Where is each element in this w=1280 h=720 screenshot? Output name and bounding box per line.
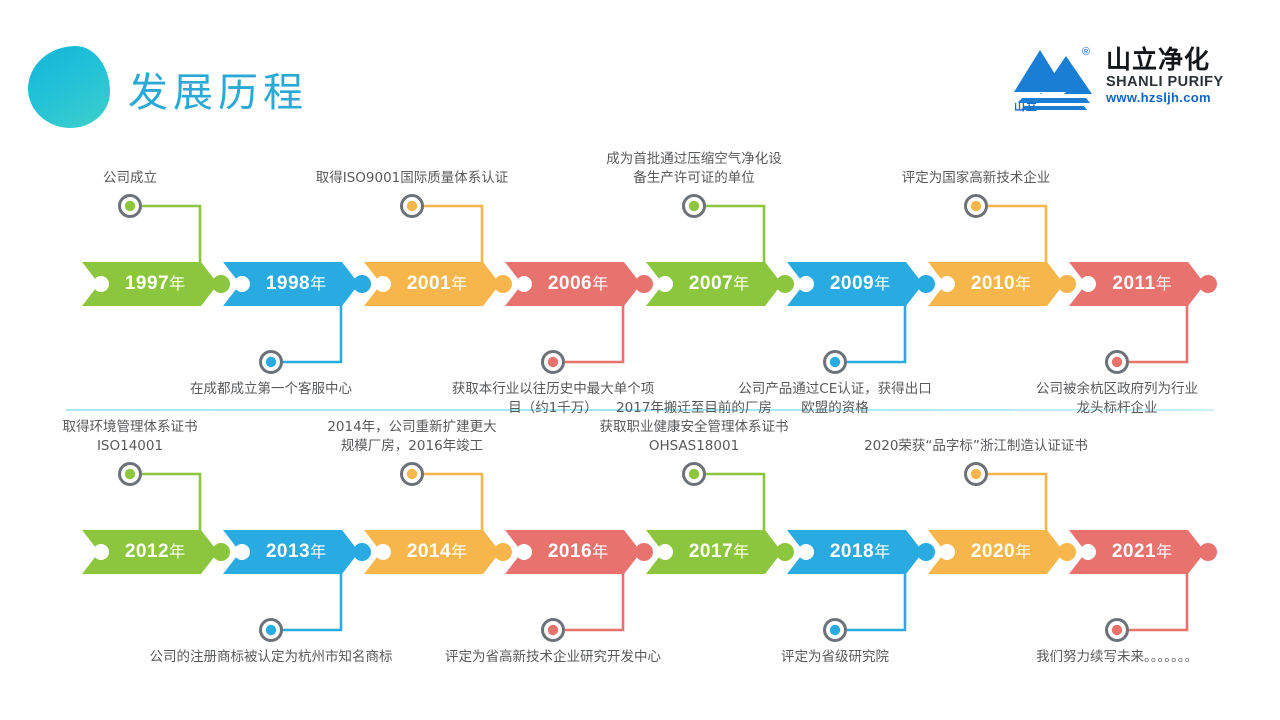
timeline-connector <box>283 570 341 630</box>
timeline-marker-dot[interactable] <box>825 620 846 641</box>
timeline-marker-dot[interactable] <box>966 464 987 485</box>
timeline-note: 我们努力续写未来。。。。。。。 <box>992 648 1242 667</box>
timeline-note: 取得环境管理体系证书 ISO14001 <box>5 418 255 456</box>
chevron-socket <box>939 276 955 292</box>
chevron-nub <box>1058 275 1076 293</box>
chevron-nub <box>353 543 371 561</box>
logo-website: www.hzsljh.com <box>1106 90 1218 106</box>
timeline-connector <box>565 302 623 362</box>
chevron-nub <box>1199 543 1217 561</box>
chevron-socket <box>657 276 673 292</box>
timeline-connector <box>706 206 764 266</box>
timeline-marker-dot[interactable] <box>684 464 705 485</box>
timeline-note: 评定为省高新技术企业研究开发中心 <box>428 648 678 667</box>
timeline-connector <box>424 206 482 266</box>
timeline-connector <box>1129 302 1187 362</box>
chevron-socket <box>1080 276 1096 292</box>
timeline-marker-dot[interactable] <box>684 196 705 217</box>
company-logo: ® 山立 山立净化 SHANLI PURIFY www.hzsljh.com <box>1010 46 1216 120</box>
registered-mark: ® <box>1082 46 1090 58</box>
chevron-socket <box>657 544 673 560</box>
timeline-note: 2017年搬迁至目前的厂房 获取职业健康安全管理体系证书 OHSAS18001 <box>569 399 819 456</box>
chevron-nub <box>353 275 371 293</box>
timeline-marker-dot[interactable] <box>120 196 141 217</box>
timeline-marker-dot[interactable] <box>543 620 564 641</box>
timeline-connector <box>1129 570 1187 630</box>
chevron-socket <box>375 276 391 292</box>
logo-name-en: SHANLI PURIFY <box>1106 74 1218 90</box>
timeline-marker-dot[interactable] <box>402 196 423 217</box>
timeline-note: 公司被余杭区政府列为行业 龙头标杆企业 <box>992 380 1242 418</box>
timeline-note: 评定为省级研究院 <box>710 648 960 667</box>
timeline-connector <box>988 206 1046 266</box>
chevron-socket <box>234 276 250 292</box>
timeline-note: 在成都成立第一个客服中心 <box>146 380 396 399</box>
timeline-marker-dot[interactable] <box>1107 620 1128 641</box>
timeline-note: 取得ISO9001国际质量体系认证 <box>287 169 537 188</box>
timeline-connector <box>424 474 482 534</box>
timeline-marker-dot[interactable] <box>402 464 423 485</box>
timeline-connector <box>847 570 905 630</box>
timeline-connector <box>988 474 1046 534</box>
chevron-nub <box>776 275 794 293</box>
timeline-connector <box>565 570 623 630</box>
timeline-connector <box>142 474 200 534</box>
timeline-note: 评定为国家高新技术企业 <box>851 169 1101 188</box>
page-title: 发展历程 <box>128 60 308 118</box>
timeline-connector <box>283 302 341 362</box>
timeline-marker-dot[interactable] <box>261 620 282 641</box>
chevron-socket <box>1080 544 1096 560</box>
timeline-row-1: 1997年公司成立1998年在成都成立第一个客服中心2001年取得ISO9001… <box>0 150 1280 420</box>
chevron-nub <box>212 543 230 561</box>
timeline-note: 2014年，公司重新扩建更大 规模厂房，2016年竣工 <box>287 418 537 456</box>
chevron-nub <box>494 275 512 293</box>
chevron-nub <box>1058 543 1076 561</box>
timeline-marker-dot[interactable] <box>966 196 987 217</box>
chevron-nub <box>776 543 794 561</box>
chevron-socket <box>798 544 814 560</box>
chevron-socket <box>516 544 532 560</box>
chevron-nub <box>494 543 512 561</box>
chevron-nub <box>917 275 935 293</box>
chevron-socket <box>93 276 109 292</box>
timeline-note: 公司的注册商标被认定为杭州市知名商标 <box>146 648 396 667</box>
logo-name-cn: 山立净化 <box>1106 46 1218 74</box>
chevron-socket <box>516 276 532 292</box>
chevron-socket <box>375 544 391 560</box>
chevron-nub <box>635 543 653 561</box>
timeline-note: 2020荣获“品字标”浙江制造认证证书 <box>851 437 1101 456</box>
chevron-socket <box>93 544 109 560</box>
timeline-row-2: 2012年取得环境管理体系证书 ISO140012013年公司的注册商标被认定为… <box>0 418 1280 688</box>
timeline-marker-dot[interactable] <box>543 352 564 373</box>
page-header: 发展历程 ® 山立 山立净化 SHANLI PURIFY www.hzsljh.… <box>0 0 1280 140</box>
chevron-nub <box>917 543 935 561</box>
timeline-connector <box>142 206 200 266</box>
timeline-connector <box>847 302 905 362</box>
chevron-socket <box>939 544 955 560</box>
chevron-nub <box>212 275 230 293</box>
timeline-note: 成为首批通过压缩空气净化设 备生产许可证的单位 <box>569 150 819 188</box>
chevron-nub <box>635 275 653 293</box>
timeline-marker-dot[interactable] <box>825 352 846 373</box>
timeline-connector <box>706 474 764 534</box>
chevron-socket <box>234 544 250 560</box>
logo-textblock: 山立净化 SHANLI PURIFY www.hzsljh.com <box>1106 46 1218 106</box>
timeline-marker-dot[interactable] <box>261 352 282 373</box>
timeline-marker-dot[interactable] <box>120 464 141 485</box>
decorative-blob <box>28 46 110 128</box>
chevron-socket <box>798 276 814 292</box>
timeline-note: 公司成立 <box>5 169 255 188</box>
timeline-marker-dot[interactable] <box>1107 352 1128 373</box>
chevron-nub <box>1199 275 1217 293</box>
logo-mark-caption: 山立 <box>1014 98 1038 114</box>
